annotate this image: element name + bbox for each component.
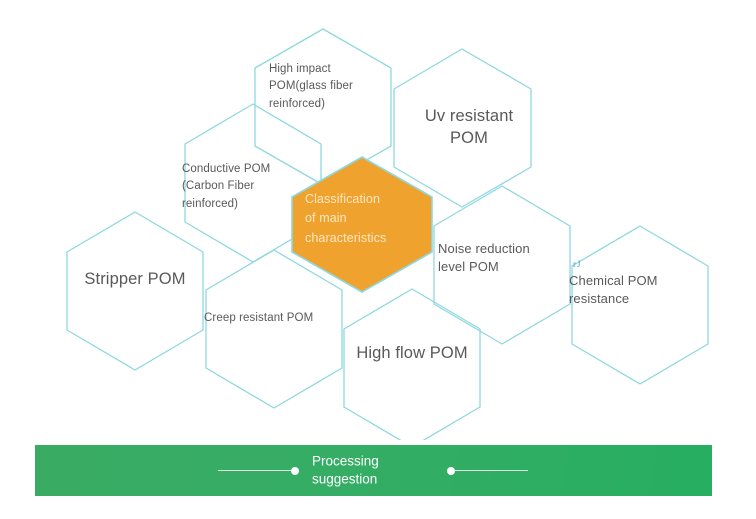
banner-decoration-left	[218, 466, 299, 476]
hexagon-creep-resistant-pom[interactable]	[206, 250, 342, 408]
banner-content: Processing suggestion	[35, 445, 712, 496]
decoration-line-icon	[218, 470, 291, 472]
decoration-dot-icon	[291, 467, 299, 475]
hexagon-grid	[0, 0, 756, 440]
hexagon-noise-reduction-pom[interactable]	[434, 186, 570, 344]
banner-decoration-right	[447, 466, 528, 476]
hexagon-chemical-pom-resistance[interactable]	[572, 226, 708, 384]
hexagon-high-flow-pom[interactable]	[344, 289, 480, 440]
banner-label: Processing suggestion	[312, 452, 379, 489]
diagram-canvas: High impact POM(glass fiber reinforced) …	[0, 0, 756, 519]
hexagon-stripper-pom[interactable]	[67, 212, 203, 370]
hexagon-uv-resistant-pom[interactable]	[394, 49, 531, 207]
decoration-line-icon	[455, 470, 528, 472]
decoration-dot-icon	[447, 467, 455, 475]
processing-suggestion-banner[interactable]: Processing suggestion	[35, 445, 712, 496]
